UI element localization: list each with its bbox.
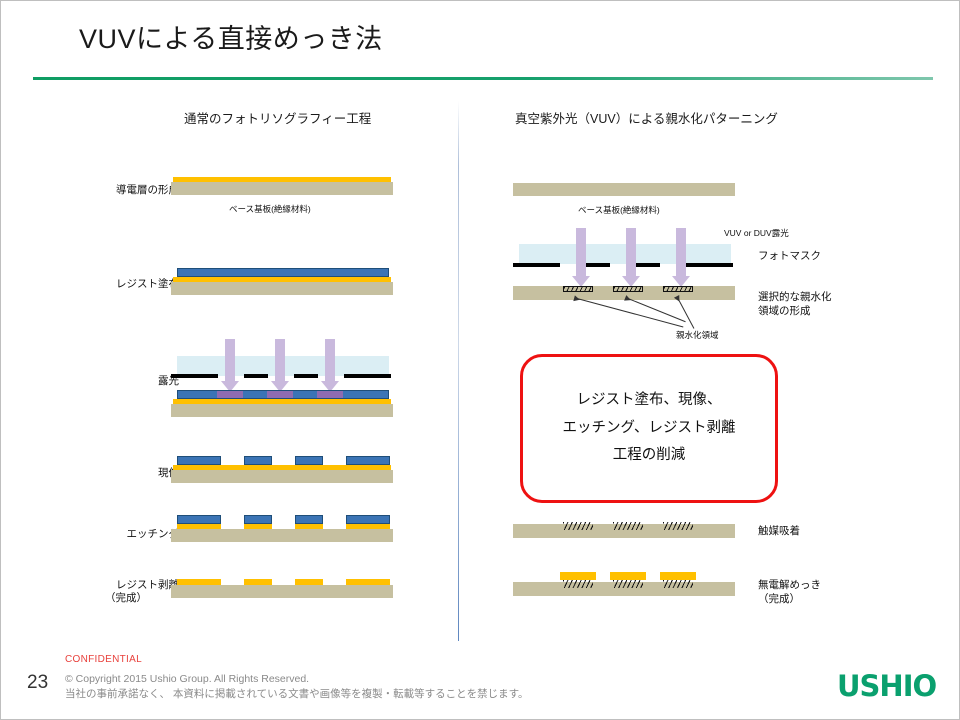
exposed-resist-region (267, 391, 293, 398)
layer-substrate-step4 (171, 470, 393, 483)
left-column-heading: 通常のフォトリソグラフィー工程 (184, 108, 371, 127)
page-title: VUVによる直接めっき法 (79, 17, 383, 56)
title-underline (33, 77, 933, 80)
layer-substrate-step6 (171, 585, 393, 598)
callout-process-reduction: レジスト塗布、現像、 エッチング、レジスト剥離 工程の削減 (520, 354, 778, 503)
uv-arrow-shaft (325, 339, 335, 381)
chrome-segment (686, 263, 733, 267)
catalyst-region (613, 522, 643, 530)
uv-arrow-shaft (626, 228, 636, 276)
uv-arrow-shaft (225, 339, 235, 381)
resist-island (346, 456, 390, 465)
uv-arrow-shaft (676, 228, 686, 276)
chrome-segment (586, 263, 610, 267)
label-catalyst-adsorption: 触媒吸着 (758, 525, 800, 539)
caption-base-substrate-left: ベース基板(絶縁材料) (229, 203, 311, 215)
label-photomask: フォトマスク (758, 250, 821, 264)
layer-substrate-step3 (171, 404, 393, 417)
callout-line-2: エッチング、レジスト剥離 (563, 415, 736, 443)
catalyst-region (613, 580, 643, 588)
chrome-segment (244, 374, 268, 378)
resist-island (295, 515, 323, 524)
annotation-hydrophilic-region: 親水化領域 (676, 329, 719, 341)
callout-line-3: 工程の削減 (613, 442, 686, 470)
catalyst-region (563, 522, 593, 530)
label-selective-hydrophilic-1: 選択的な親水化 (758, 291, 832, 305)
layer-substrate-step1 (171, 182, 393, 195)
leader-arrow-head (573, 295, 580, 302)
confidential-marker: CONFIDENTIAL (65, 654, 142, 665)
catalyst-region (663, 522, 693, 530)
chrome-segment (513, 263, 560, 267)
chrome-segment (344, 374, 391, 378)
label-electroless-plating-done: （完成） (758, 593, 800, 607)
resist-island (177, 515, 221, 524)
slide-canvas: VUVによる直接めっき法 通常のフォトリソグラフィー工程 真空紫外光（VUV）に… (0, 0, 960, 720)
step-label-resist-coat: レジスト塗布 (79, 278, 179, 291)
catalyst-region (663, 580, 693, 588)
ushio-logo: USHIO (837, 669, 936, 703)
label-vuv-duv-exposure: VUV or DUV露光 (724, 227, 789, 239)
hydrophilic-region (613, 286, 643, 292)
column-divider (458, 101, 459, 641)
step-label-exposure: 露光 (79, 375, 179, 388)
chrome-segment (636, 263, 660, 267)
chrome-segment (294, 374, 318, 378)
uv-arrow-shaft (275, 339, 285, 381)
resist-island (346, 515, 390, 524)
exposed-resist-region (317, 391, 343, 398)
hydrophilic-region (563, 286, 593, 292)
catalyst-region (563, 580, 593, 588)
plated-copper (660, 572, 696, 580)
right-column-heading: 真空紫外光（VUV）による親水化パターニング (515, 108, 778, 127)
resist-island (244, 456, 272, 465)
resist-island (177, 456, 221, 465)
step-label-resist-strip-done: （完成） (73, 592, 179, 605)
plated-copper (560, 572, 596, 580)
step-label-etching: エッチング (79, 528, 179, 541)
step-label-development: 現像 (79, 467, 179, 480)
label-selective-hydrophilic-2: 領域の形成 (758, 305, 811, 319)
leader-line (678, 298, 695, 328)
photomask-plate-right (519, 244, 731, 264)
resist-island (295, 456, 323, 465)
layer-resist-step2 (177, 268, 389, 277)
callout-line-1: レジスト塗布、現像、 (577, 387, 722, 415)
label-electroless-plating: 無電解めっき (758, 579, 821, 593)
leader-arrow-head (624, 295, 632, 303)
resist-island (244, 515, 272, 524)
step-label-resist-strip: レジスト剥離 (73, 579, 179, 592)
leader-line (577, 298, 684, 327)
step-label-conductive-layer: 導電層の形成 (79, 184, 179, 197)
hydrophilic-region (663, 286, 693, 292)
chrome-segment (171, 374, 218, 378)
copyright-line: © Copyright 2015 Ushio Group. All Rights… (65, 673, 309, 685)
layer-substrate-right1 (513, 183, 735, 196)
caption-base-substrate-right: ベース基板(絶縁材料) (578, 204, 660, 216)
page-number: 23 (27, 672, 48, 694)
layer-substrate-step5 (171, 529, 393, 542)
plated-copper (610, 572, 646, 580)
legal-notice-line: 当社の事前承諾なく、 本資料に掲載されている文書や画像等を複製・転載等することを… (65, 686, 529, 701)
layer-substrate-step2 (171, 282, 393, 295)
exposed-resist-region (217, 391, 243, 398)
uv-arrow-shaft (576, 228, 586, 276)
